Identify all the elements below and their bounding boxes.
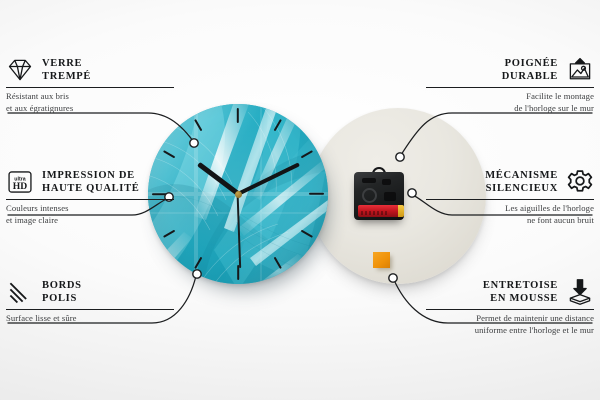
feature-subtitle-line2: ne font aucun bruit — [426, 215, 594, 227]
infographic-stage: VERRE TREMPÉ Résistant aux bris et aux é… — [0, 0, 600, 400]
feature-subtitle-line2: et aux égratignures — [6, 103, 174, 115]
feature-subtitle-line1: Couleurs intenses — [6, 203, 174, 215]
feature-impression-haute-qualite: ultra HD IMPRESSION DE HAUTE QUALITÉ Cou… — [6, 168, 174, 226]
foam-spacer — [373, 252, 390, 268]
movement-detail — [382, 179, 391, 185]
title-divider — [6, 309, 174, 310]
feature-header: VERRE TREMPÉ — [6, 56, 174, 84]
arrow-down-layers-icon — [566, 278, 594, 306]
feature-entretoise-en-mousse: ENTRETOISE EN MOUSSE Permet de maintenir… — [426, 278, 594, 336]
hand-center-cap — [235, 191, 242, 198]
feature-subtitle-line1: Permet de maintenir une distance — [426, 313, 594, 325]
hanging-frame-icon — [566, 56, 594, 84]
title-divider — [426, 199, 594, 200]
feature-subtitle-line2: et image claire — [6, 215, 174, 227]
polished-edges-icon — [6, 278, 34, 306]
feature-subtitle-line2: uniforme entre l'horloge et le mur — [426, 325, 594, 337]
feature-subtitle-line2: de l'horloge sur le mur — [426, 103, 594, 115]
title-divider — [426, 87, 594, 88]
feature-poignee-durable: POIGNÉE DURABLE Facilite le montage de l… — [426, 56, 594, 114]
feature-title: BORDS POLIS — [42, 279, 82, 305]
title-divider — [6, 87, 174, 88]
movement-detail — [362, 178, 376, 183]
quartz-movement — [354, 172, 404, 220]
movement-detail — [384, 192, 396, 201]
feature-title: POIGNÉE DURABLE — [502, 57, 558, 83]
feature-mecanisme-silencieux: MÉCANISME SILENCIEUX Les aiguilles de l'… — [426, 168, 594, 226]
clock-front-face — [148, 104, 328, 284]
svg-text:HD: HD — [13, 181, 27, 192]
battery-label — [361, 211, 387, 215]
feature-header: MÉCANISME SILENCIEUX — [426, 168, 594, 196]
feature-header: ENTRETOISE EN MOUSSE — [426, 278, 594, 306]
movement-dial-ring — [362, 188, 377, 203]
movement-body — [354, 172, 404, 220]
feature-header: BORDS POLIS — [6, 278, 174, 306]
battery-terminal — [398, 205, 404, 217]
gear-icon — [566, 168, 594, 196]
feature-header: ultra HD IMPRESSION DE HAUTE QUALITÉ — [6, 168, 174, 196]
feature-title: ENTRETOISE EN MOUSSE — [483, 279, 558, 305]
diamond-icon — [6, 56, 34, 84]
title-divider — [6, 199, 174, 200]
title-divider — [426, 309, 594, 310]
feature-title: VERRE TREMPÉ — [42, 57, 91, 83]
feature-subtitle-line1: Facilite le montage — [426, 91, 594, 103]
feature-subtitle-line1: Surface lisse et sûre — [6, 313, 174, 325]
feature-header: POIGNÉE DURABLE — [426, 56, 594, 84]
feature-verre-trempe: VERRE TREMPÉ Résistant aux bris et aux é… — [6, 56, 174, 114]
feature-title: IMPRESSION DE HAUTE QUALITÉ — [42, 169, 140, 195]
feature-subtitle-line1: Les aiguilles de l'horloge — [426, 203, 594, 215]
feature-bords-polis: BORDS POLIS Surface lisse et sûre — [6, 278, 174, 325]
ultra-hd-badge-icon: ultra HD — [6, 168, 34, 196]
feature-subtitle-line1: Résistant aux bris — [6, 91, 174, 103]
feature-title: MÉCANISME SILENCIEUX — [485, 169, 558, 195]
